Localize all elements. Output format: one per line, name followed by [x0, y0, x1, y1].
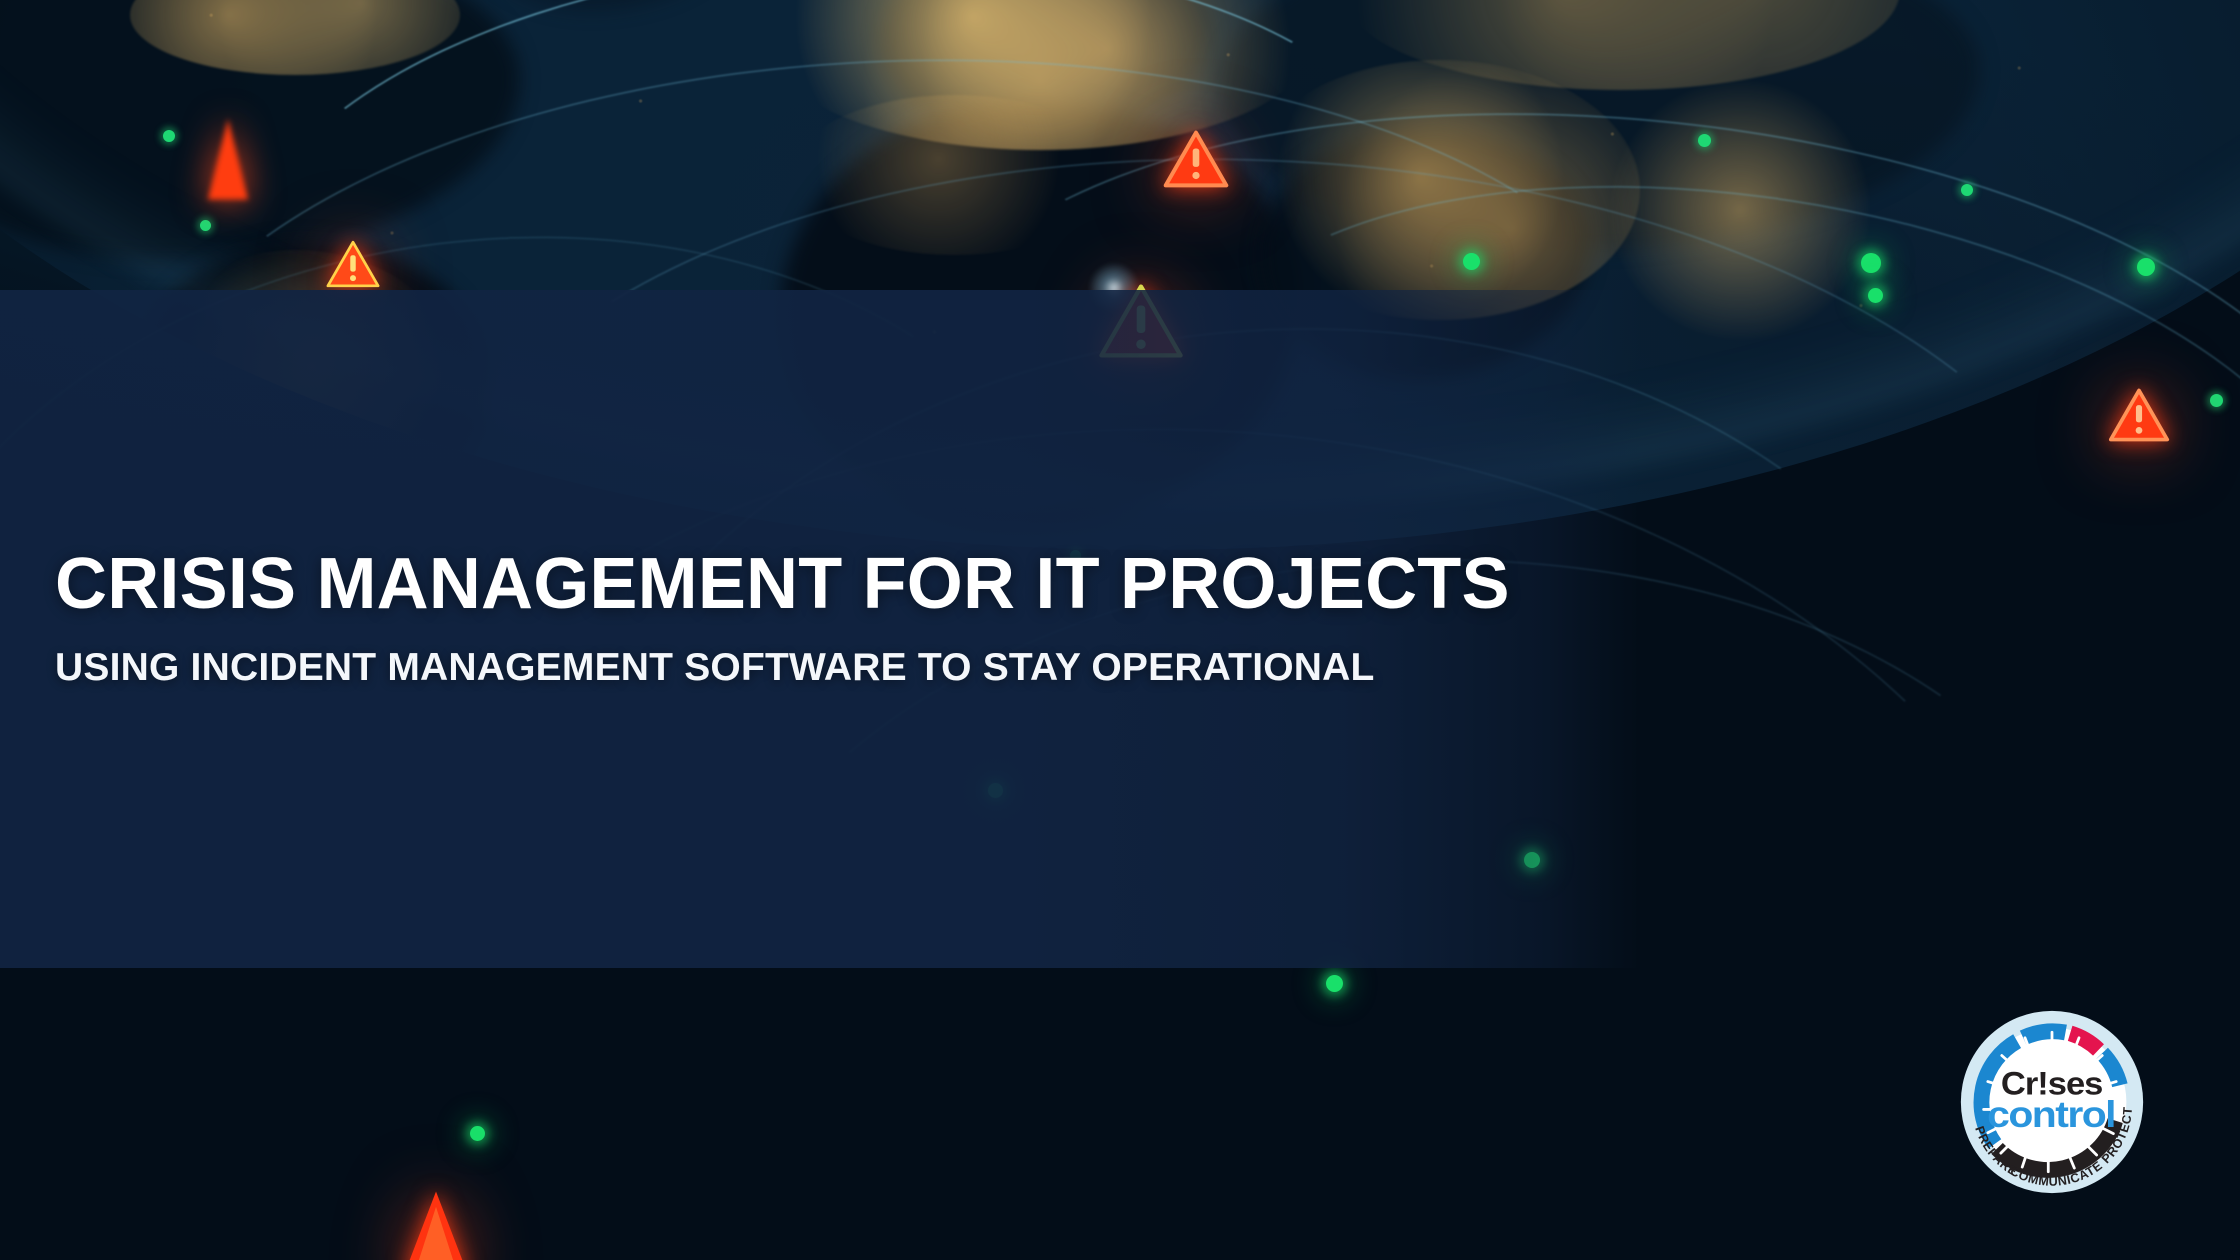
node-green-scandinavia — [1698, 134, 1711, 147]
node-green-india — [2137, 258, 2155, 276]
warning-triangle-icon — [1163, 130, 1229, 188]
node-green-siberia — [1463, 253, 1480, 270]
node-green-north-pacific — [163, 130, 175, 142]
warning-triangle-south-asia — [2108, 388, 2170, 442]
node-green-oceania — [2210, 394, 2223, 407]
node-green-mid-atlantic — [1961, 184, 1973, 196]
logo-word-bottom: control — [1987, 1095, 2115, 1136]
warning-triangle-icon — [2108, 388, 2170, 442]
title-slide: CRISIS MANAGEMENT FOR IT PROJECTS USING … — [0, 0, 2240, 1260]
warning-triangle-north-america-far — [205, 115, 251, 205]
logo-badge: Cr!ses control PREPARE COMMUNICATE PROTE… — [1959, 1009, 2145, 1195]
node-green-east-asia — [1868, 288, 1883, 303]
node-green-north-america-west — [200, 220, 211, 231]
node-green-southeast-asia — [1861, 253, 1881, 273]
node-green-south-america — [470, 1126, 485, 1141]
warning-triangle-icon — [325, 240, 381, 288]
warning-triangle-south-america — [400, 1188, 472, 1260]
crises-control-logo[interactable]: Cr!ses control PREPARE COMMUNICATE PROTE… — [1959, 1009, 2145, 1195]
node-green-africa-south — [1326, 975, 1343, 992]
page-subtitle: USING INCIDENT MANAGEMENT SOFTWARE TO ST… — [55, 648, 1855, 687]
warning-triangle-north-atlantic — [1163, 130, 1229, 188]
warning-triangle-north-america — [325, 240, 381, 288]
heading-block: CRISIS MANAGEMENT FOR IT PROJECTS USING … — [55, 548, 1855, 687]
page-title: CRISIS MANAGEMENT FOR IT PROJECTS — [55, 548, 1855, 620]
warning-triangle-icon — [400, 1188, 472, 1260]
warning-triangle-icon — [205, 115, 251, 205]
